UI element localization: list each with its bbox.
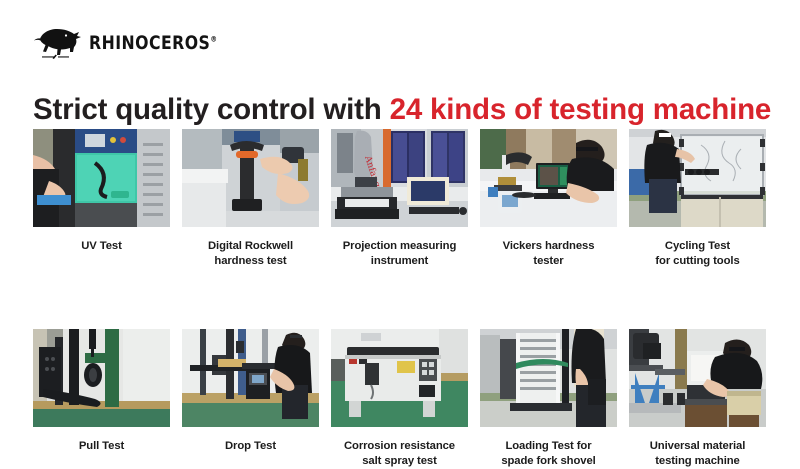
photo-loading-test-spade-fork-shovel: [480, 329, 617, 427]
trademark-symbol: ®: [210, 35, 217, 44]
brand-wordmark: RHINOCEROS®: [89, 32, 217, 54]
photo-projection-measuring-instrument: Anfang: [331, 129, 468, 227]
photo-corrosion-salt-spray-test: [331, 329, 468, 427]
gallery-item-caption: Cycling Test for cutting tools: [655, 239, 739, 269]
gallery-item[interactable]: Vickers hardness tester: [480, 129, 617, 269]
page-title: Strict quality control with 24 kinds of …: [33, 94, 778, 126]
testing-machine-gallery: UV Test Digi: [33, 129, 767, 469]
gallery-item[interactable]: Digital Rockwell hardness test: [182, 129, 319, 269]
gallery-item-caption: Pull Test: [79, 439, 124, 454]
photo-pull-test: [33, 329, 170, 427]
brand-name-text: RHINOCEROS: [89, 32, 210, 54]
gallery-item[interactable]: Loading Test for spade fork shovel: [480, 329, 617, 469]
brand-logo: RHINOCEROS®: [33, 24, 229, 62]
gallery-item[interactable]: UV Test: [33, 129, 170, 269]
rhinoceros-logo-icon: [33, 26, 85, 60]
gallery-item-caption: Digital Rockwell hardness test: [208, 239, 293, 269]
photo-uv-test: [33, 129, 170, 227]
gallery-item[interactable]: Anfang Projection measuring instrument: [331, 129, 468, 269]
gallery-item[interactable]: Pull Test: [33, 329, 170, 469]
gallery-item-caption: Universal material testing machine: [650, 439, 746, 469]
gallery-item[interactable]: Universal material testing machine: [629, 329, 766, 469]
title-accent-text: 24 kinds of testing machine: [390, 93, 771, 126]
gallery-item-caption: Drop Test: [225, 439, 276, 454]
gallery-item-caption: UV Test: [81, 239, 122, 254]
photo-vickers-hardness-tester: [480, 129, 617, 227]
photo-drop-test: [182, 329, 319, 427]
gallery-item[interactable]: Corrosion resistance salt spray test: [331, 329, 468, 469]
photo-universal-material-testing-machine: [629, 329, 766, 427]
gallery-item[interactable]: Cycling Test for cutting tools: [629, 129, 766, 269]
gallery-item-caption: Projection measuring instrument: [343, 239, 457, 269]
gallery-item-caption: Corrosion resistance salt spray test: [344, 439, 455, 469]
gallery-item[interactable]: Drop Test: [182, 329, 319, 469]
photo-digital-rockwell-hardness-test: [182, 129, 319, 227]
title-lead-text: Strict quality control with: [33, 93, 390, 126]
gallery-item-caption: Vickers hardness tester: [503, 239, 595, 269]
row-spacer: [33, 269, 766, 329]
photo-cycling-test-cutting-tools: [629, 129, 766, 227]
gallery-item-caption: Loading Test for spade fork shovel: [501, 439, 595, 469]
